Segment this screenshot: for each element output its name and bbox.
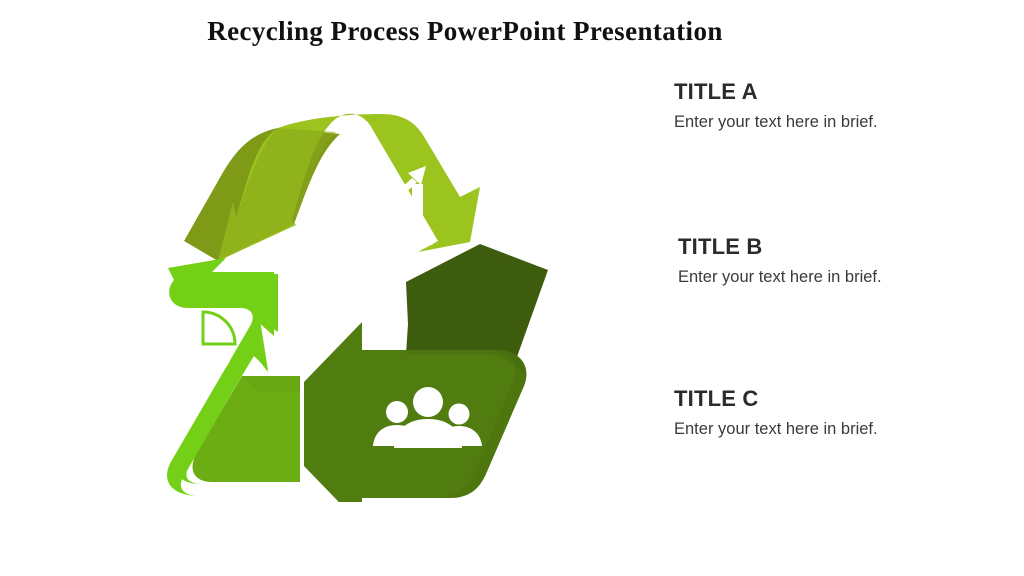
block-title-a: TITLE A [674, 80, 974, 104]
block-body-a: Enter your text here in brief. [674, 111, 884, 135]
text-block-title-b: TITLE B Enter your text here in brief. [678, 235, 978, 290]
recycle-segment-bottom-right[interactable] [304, 244, 548, 502]
recycle-segment-left[interactable] [167, 258, 300, 496]
recycle-segment-top[interactable] [184, 114, 480, 261]
block-body-c: Enter your text here in brief. [674, 418, 884, 442]
text-block-title-c: TITLE C Enter your text here in brief. [674, 387, 974, 442]
text-block-title-a: TITLE A Enter your text here in brief. [674, 80, 974, 135]
recycling-arrows-diagram [108, 92, 594, 502]
block-title-b: TITLE B [678, 235, 978, 259]
bar-chart-icon [350, 160, 434, 249]
block-title-c: TITLE C [674, 387, 974, 411]
slide-canvas: Recycling Process PowerPoint Presentatio… [0, 0, 1024, 576]
page-title: Recycling Process PowerPoint Presentatio… [0, 16, 930, 47]
block-body-b: Enter your text here in brief. [678, 266, 888, 290]
